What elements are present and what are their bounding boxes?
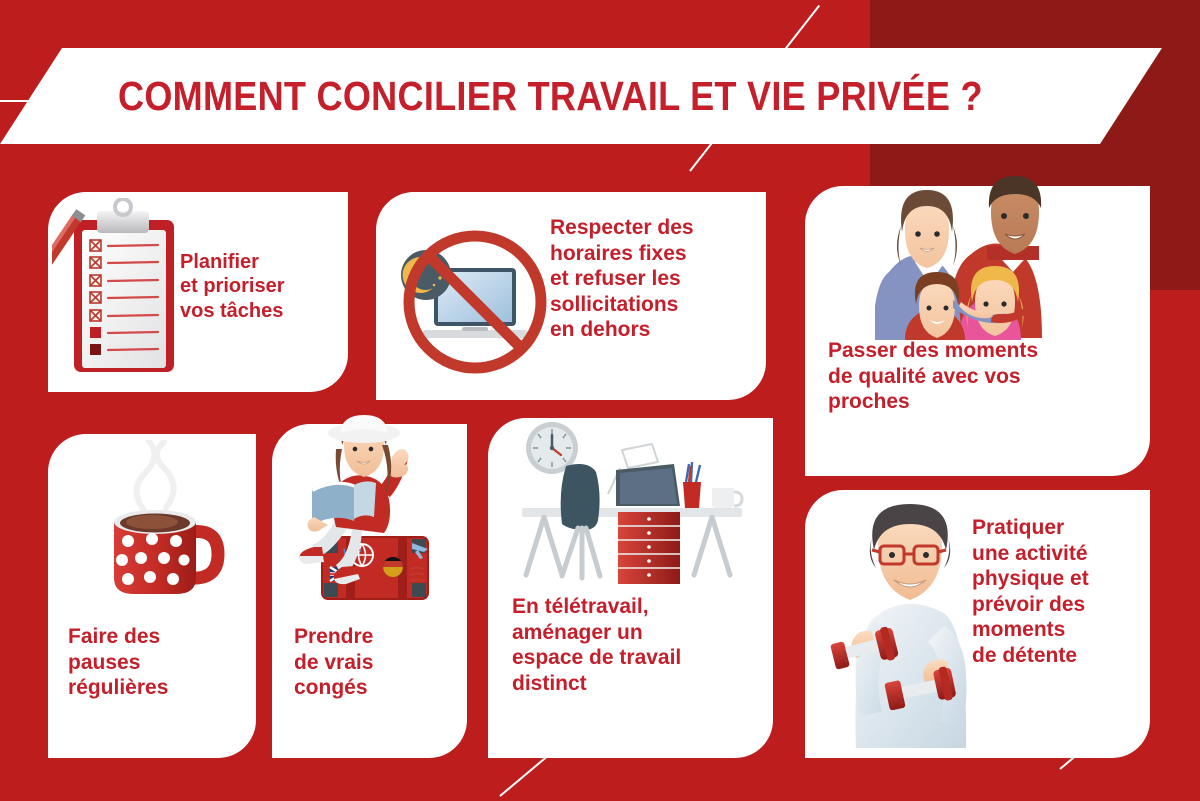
card-teletravail[interactable] xyxy=(488,418,773,758)
card-teletravail-label: En télétravail, aménager un espace de tr… xyxy=(512,594,767,696)
card-conges-label: Prendre de vrais congés xyxy=(294,624,459,701)
card-famille[interactable] xyxy=(805,186,1150,476)
card-pauses-label: Faire des pauses régulières xyxy=(68,624,243,701)
card-conges[interactable] xyxy=(272,424,467,758)
card-famille-label: Passer des moments de qualité avec vos p… xyxy=(828,338,1138,415)
page-title: COMMENT CONCILIER TRAVAIL ET VIE PRIVÉE … xyxy=(118,73,983,120)
card-sport-label: Pratiquer une activité physique et prévo… xyxy=(972,515,1150,669)
card-pauses[interactable] xyxy=(48,434,256,758)
card-horaires-label: Respecter des horaires fixes et refuser … xyxy=(550,215,765,343)
title-banner-content: COMMENT CONCILIER TRAVAIL ET VIE PRIVÉE … xyxy=(0,48,1162,144)
card-planifier-label: Planifier et prioriser vos tâches xyxy=(180,250,350,323)
